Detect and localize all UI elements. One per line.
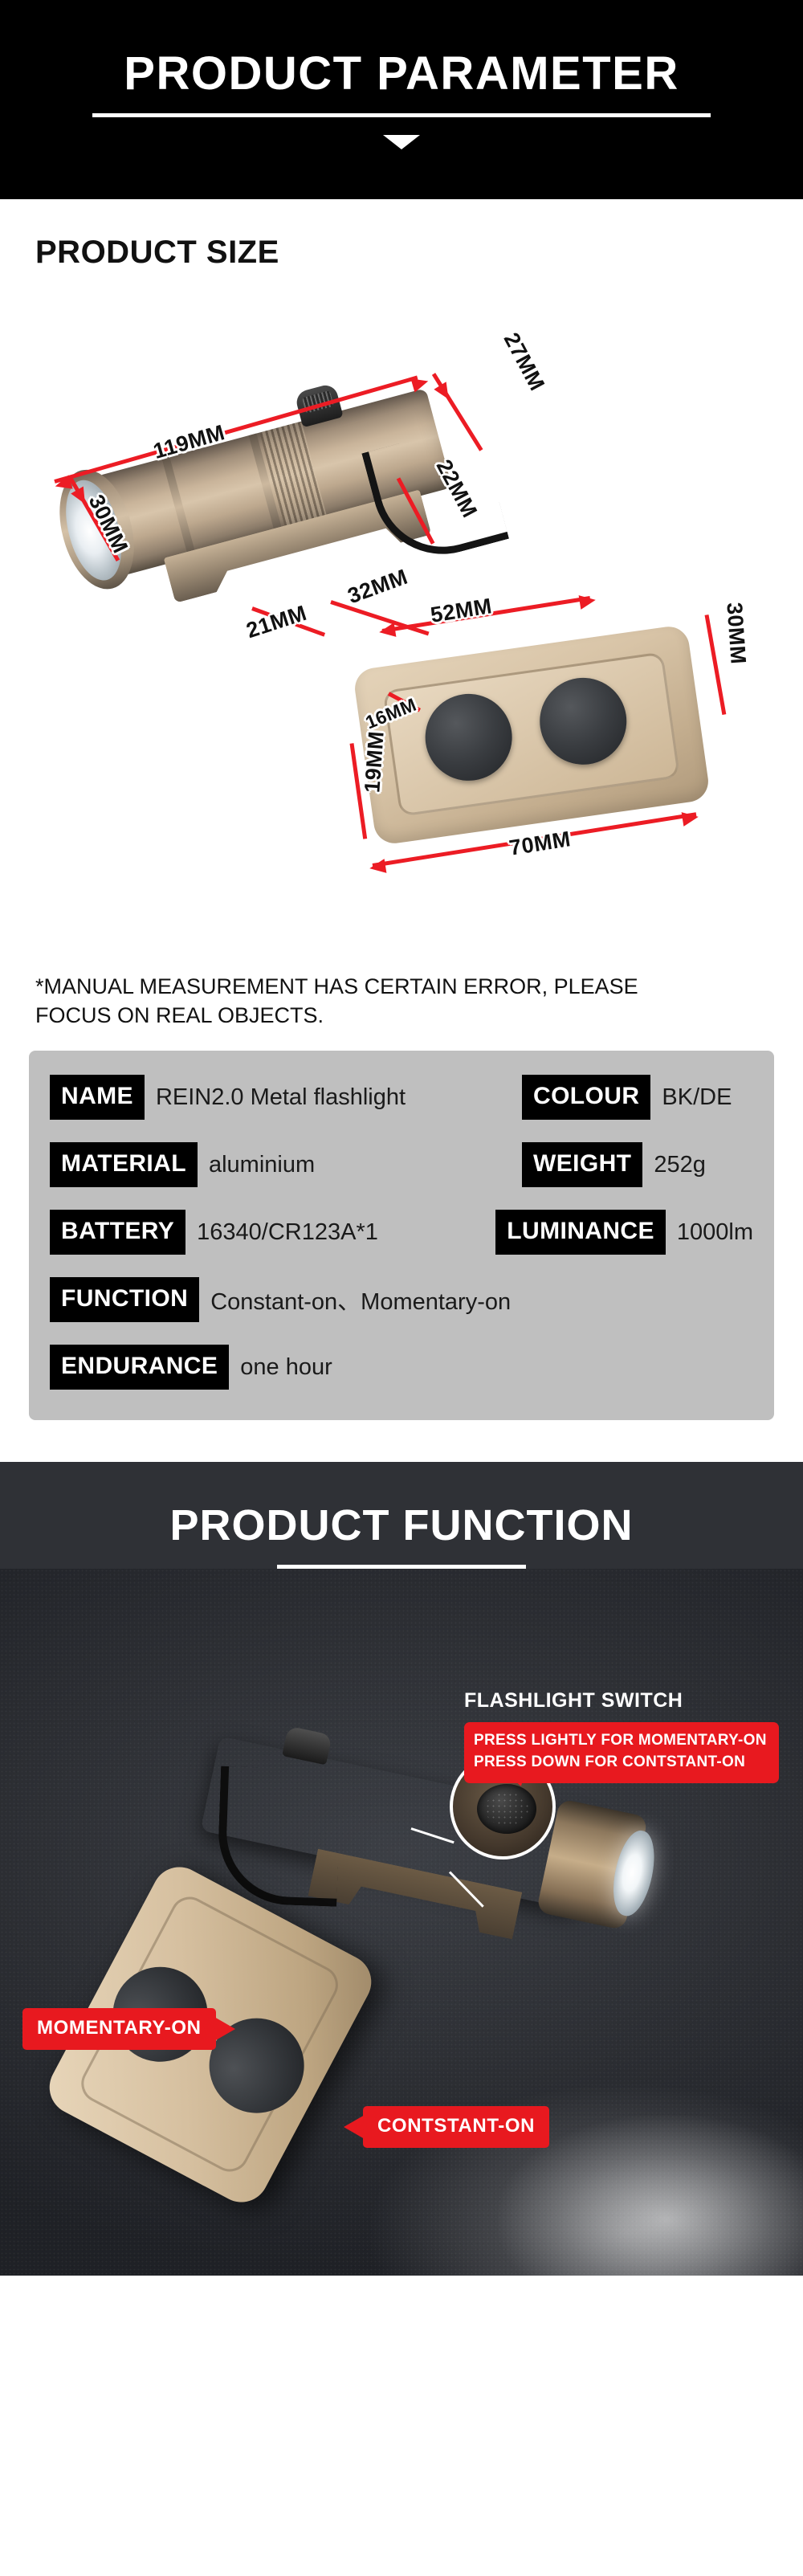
measurement-note-line-1: *MANUAL MEASUREMENT HAS CERTAIN ERROR, P… (35, 973, 768, 1002)
spec-value-material: aluminium (209, 1152, 315, 1178)
banner-divider (92, 113, 711, 117)
dimension-arrow-pad-inner-a (378, 623, 397, 639)
spec-cell-weight: WEIGHT 252g (522, 1142, 706, 1187)
flashlight-switch-callout: FLASHLIGHT SWITCH PRESS LIGHTLY FOR MOME… (464, 1689, 785, 1783)
product-function-title: PRODUCT FUNCTION (170, 1504, 634, 1547)
product-size-heading: PRODUCT SIZE (35, 235, 768, 271)
pressure-pad-illustration (353, 624, 711, 846)
dimension-label-head: 27MM (499, 329, 550, 395)
spec-value-endurance: one hour (240, 1354, 332, 1381)
spec-key-function: FUNCTION (50, 1277, 199, 1322)
dimension-arrow-pad-outer-a (369, 859, 387, 876)
spec-key-weight: WEIGHT (522, 1142, 642, 1187)
product-function-divider (277, 1565, 526, 1569)
product-function-photo: FLASHLIGHT SWITCH PRESS LIGHTLY FOR MOME… (0, 1569, 803, 2276)
label-momentary-on: MOMENTARY-ON (22, 2008, 216, 2050)
spec-key-luminance: LUMINANCE (495, 1210, 666, 1255)
flashlight-switch-callout-header: FLASHLIGHT SWITCH (464, 1689, 785, 1713)
spec-value-luminance: 1000lm (677, 1219, 753, 1246)
spec-row: ENDURANCE one hour (50, 1345, 753, 1390)
spec-cell-name: NAME REIN2.0 Metal flashlight (50, 1075, 522, 1120)
caret-down-icon (383, 135, 420, 149)
flashlight-switch-instruction-box: PRESS LIGHTLY FOR MOMENTARY-ON PRESS DOW… (464, 1722, 779, 1783)
spec-cell-function: FUNCTION Constant-on、Momentary-on (50, 1277, 522, 1322)
dimension-label-pad-height: 30MM (721, 602, 750, 665)
dimension-label-pad-inner: 52MM (429, 594, 494, 628)
specification-table: NAME REIN2.0 Metal flashlight COLOUR BK/… (29, 1051, 774, 1420)
product-parameter-title: PRODUCT PARAMETER (124, 51, 679, 110)
spec-row: NAME REIN2.0 Metal flashlight COLOUR BK/… (50, 1075, 753, 1120)
spec-cell-material: MATERIAL aluminium (50, 1142, 522, 1187)
instruction-line-momentary: PRESS LIGHTLY FOR MOMENTARY-ON (474, 1730, 769, 1752)
spec-cell-luminance: LUMINANCE 1000lm (495, 1210, 753, 1255)
spec-cell-endurance: ENDURANCE one hour (50, 1345, 522, 1390)
spec-key-battery: BATTERY (50, 1210, 185, 1255)
spec-value-battery: 16340/CR123A*1 (197, 1219, 378, 1246)
spec-key-colour: COLOUR (522, 1075, 650, 1120)
product-function-header: PRODUCT FUNCTION (0, 1462, 803, 1569)
switch-zoom-knob (477, 1784, 536, 1834)
spec-key-material: MATERIAL (50, 1142, 198, 1187)
label-constant-on: CONTSTANT-ON (363, 2106, 549, 2148)
spec-value-name: REIN2.0 Metal flashlight (156, 1084, 406, 1111)
measurement-note-line-2: FOCUS ON REAL OBJECTS. (35, 1002, 768, 1031)
spec-key-endurance: ENDURANCE (50, 1345, 229, 1390)
spec-row: BATTERY 16340/CR123A*1 LUMINANCE 1000lm (50, 1210, 753, 1255)
spec-value-weight: 252g (654, 1152, 706, 1178)
dimension-label-pad-tail: 19MM (360, 730, 389, 794)
instruction-line-constant: PRESS DOWN FOR CONTSTANT-ON (474, 1752, 769, 1774)
measurement-note: *MANUAL MEASUREMENT HAS CERTAIN ERROR, P… (35, 973, 768, 1030)
spec-row: MATERIAL aluminium WEIGHT 252g (50, 1142, 753, 1187)
product-size-section: PRODUCT SIZE (0, 199, 803, 936)
dimension-label-pad-outer: 70MM (507, 827, 573, 861)
spec-cell-battery: BATTERY 16340/CR123A*1 (50, 1210, 495, 1255)
spec-row: FUNCTION Constant-on、Momentary-on (50, 1277, 753, 1322)
dimension-arrow-pad-inner-b (579, 593, 597, 610)
spec-value-colour: BK/DE (662, 1084, 732, 1111)
hero-flashlight-cable (216, 1766, 341, 1907)
dimension-diagram: 119MM 27MM 22MM 30MM 21MM 32MM 52MM (35, 301, 768, 936)
product-parameter-banner: PRODUCT PARAMETER (0, 0, 803, 199)
product-detail-page: PRODUCT PARAMETER PRODUCT SIZE (0, 0, 803, 2276)
product-function-section: PRODUCT FUNCTION (0, 1462, 803, 2276)
spec-value-function: Constant-on、Momentary-on (210, 1283, 511, 1317)
spec-key-name: NAME (50, 1075, 145, 1120)
dimension-arrow-pad-outer-b (682, 810, 700, 827)
spec-cell-colour: COLOUR BK/DE (522, 1075, 732, 1120)
